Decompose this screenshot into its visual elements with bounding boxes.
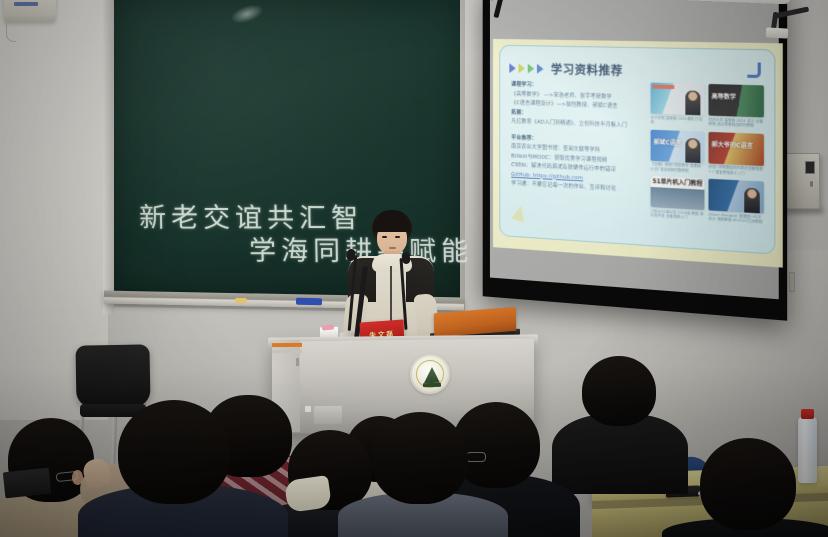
cabinet-shadow (782, 208, 824, 215)
wall-socket (789, 272, 795, 292)
thumbnail-person-head (688, 92, 697, 101)
podium-gray-stripe (272, 350, 302, 353)
thumbnail-item: 51单片机入门教程 江科大51单片机 2024版 教程 单片机开发 全套视频入门 (651, 176, 705, 221)
thumbnail-item: 可汗学院 高等数 2024课程 打包版 (651, 82, 705, 126)
audience-laptop[interactable] (3, 468, 51, 499)
podium-orange-stripe (272, 343, 302, 347)
projected-slide: 学习资料推荐 课程学习： 《高等数学》 —>宋浩老师、张宇考研数学 《C语言课程… (493, 39, 783, 268)
thumbnail-caption: 同济大学 高等数 2024 讲义 全套教程 适合零基础自学的教程 (708, 117, 763, 128)
bottle-cap[interactable] (801, 409, 814, 419)
thumbnail-item: 高等数学 同济大学 高等数 2024 讲义 全套教程 适合零基础自学的教程 (708, 84, 763, 128)
thumbnail-image: 高等数学 (708, 84, 763, 117)
wall-speaker-icon (4, 0, 56, 22)
blackboard-left-edge (103, 0, 114, 314)
cabinet-knob-icon[interactable] (810, 181, 813, 187)
triangle-arrow-4-icon (537, 63, 544, 73)
lecture-hall-scene: 新老交谊共汇智 学海同耕共赋能 学习资料推荐 课程学习： 《高等数学》 —>宋浩… (0, 0, 828, 537)
audience-glasses-icon (466, 452, 486, 462)
eraser-blue[interactable] (296, 298, 322, 305)
presenter-mouth (389, 247, 396, 249)
thumbnail-person-head (688, 139, 697, 149)
thumbnail-title: 郝斌C语言 (654, 136, 682, 146)
thumbnail-image: 郝大爷的C语言 (708, 131, 763, 165)
slide-content-card: 学习资料推荐 课程学习： 《高等数学》 —>宋浩老师、张宇考研数学 《C语言课程… (499, 45, 775, 255)
audience-head (700, 438, 796, 530)
slide-corner-decoration-icon (747, 62, 760, 78)
thumbnail-tag (653, 85, 675, 90)
podium-vent-dot (305, 406, 311, 412)
slide-triangle-decoration-icon (511, 204, 527, 223)
thumbnail-image: 郝斌C语言 (651, 129, 705, 163)
thumbnail-image (651, 82, 705, 115)
triangle-arrow-2-icon (519, 63, 525, 73)
thumbnail-item: 郝大爷的C语言 翁恺C学数据结构与算法全套视频 + C语言基础讲义入门 (708, 131, 763, 176)
thumbnail-title: 高等数学 (712, 91, 737, 101)
triangle-arrow-3-icon (528, 63, 534, 73)
water-bottle[interactable]: 矿泉水 (798, 417, 817, 483)
emblem-base-bar (423, 383, 441, 387)
audience-head (372, 412, 468, 504)
cabinet-window (805, 161, 815, 174)
empty-chair-back[interactable] (75, 344, 150, 407)
audience-head (582, 356, 656, 426)
thumbnail-caption: 【全套】郝斌C语言教学 零基础 小白C语言视频完整教程 (651, 162, 705, 174)
thumbnail-caption: 可汗学院 高等数 2024课程 打包版 (651, 115, 705, 126)
thumbnail-image: 51单片机入门教程 (651, 176, 705, 210)
thumbnail-item: Altium Designer 原理图+PCB设计 视频教程 AD2024立创教… (708, 179, 763, 225)
screen-bracket-mount (766, 27, 788, 38)
thumbnail-caption: 翁恺C学数据结构与算法全套视频 + C语言基础讲义入门 (708, 165, 763, 177)
thumbnail-item: 郝斌C语言 【全套】郝斌C语言教学 零基础 小白C语言视频完整教程 (651, 129, 705, 173)
presenter-fringe (373, 218, 411, 232)
thumbnail-caption: 江科大51单片机 2024版 教程 单片机开发 全套视频入门 (651, 209, 705, 221)
presenter-eye-left (382, 236, 387, 238)
slide-title-row: 学习资料推荐 (509, 59, 623, 78)
thumbnail-title: 51单片机入门教程 (651, 176, 705, 190)
thumbnail-title: 郝大爷的C语言 (712, 139, 753, 150)
triangle-arrow-1-icon (509, 63, 515, 73)
audience-head (118, 400, 230, 504)
chalk-yellow[interactable] (235, 298, 247, 303)
audience-body (552, 414, 688, 494)
electrical-cabinet[interactable] (784, 153, 820, 209)
thumbnail-image (708, 179, 763, 214)
speaker-cable (6, 20, 16, 42)
podium-notch (296, 358, 299, 366)
thumbnail-caption: Altium Designer 原理图+PCB设计 视频教程 AD2024立创教… (708, 212, 763, 225)
thumbnail-person-head (747, 189, 756, 199)
slide-body-text: 课程学习： 《高等数学》 —>宋浩老师、张宇考研数学 《C语言课程设计》—>翁恺… (511, 81, 653, 197)
slide-title: 学习资料推荐 (551, 60, 623, 78)
speaker-brand-label (14, 2, 38, 6)
podium-vent (314, 406, 342, 424)
presenter-eye-right (395, 236, 400, 238)
microphone-head-right-icon[interactable] (401, 252, 410, 265)
slide-thumbnail-grid: 可汗学院 高等数 2024课程 打包版 高等数学 同济大学 高等数 2024 讲… (651, 82, 764, 224)
